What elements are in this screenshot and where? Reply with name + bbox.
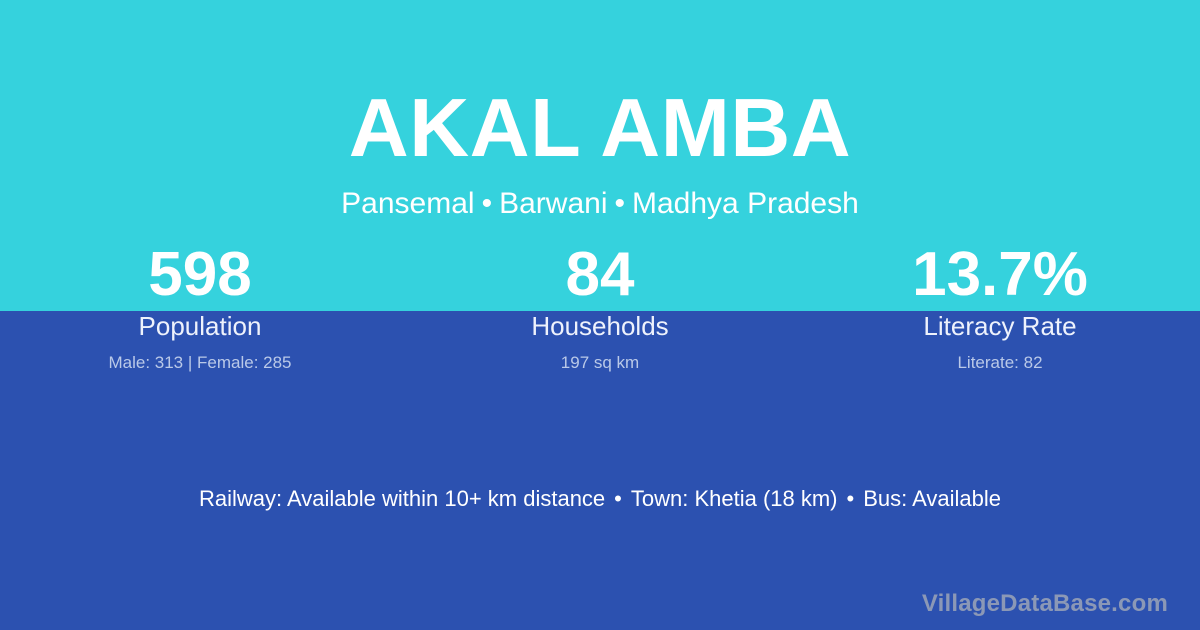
stat-households-value: 84: [400, 240, 800, 310]
page-title: AKAL AMBA: [0, 0, 1200, 169]
infrastructure-railway: Railway: Available within 10+ km distanc…: [199, 486, 605, 511]
stat-literacy-rate-label: Literacy Rate: [800, 310, 1200, 342]
site-brand-logo: VillageDataBase.com: [922, 590, 1168, 618]
infrastructure-separator-2: •: [838, 484, 864, 514]
card-header: AKAL AMBA Pansemal•Barwani•Madhya Prades…: [0, 0, 1200, 219]
stat-population-value: 598: [0, 240, 400, 310]
stat-population-detail: Male: 313 | Female: 285: [0, 342, 400, 376]
infrastructure-town: Town: Khetia (18 km): [631, 486, 838, 511]
stat-households: 84 Households 197 sq km: [400, 240, 800, 376]
stat-literacy-rate-detail: Literate: 82: [800, 342, 1200, 376]
location-breadcrumb: Pansemal•Barwani•Madhya Pradesh: [0, 169, 1200, 219]
village-info-card: AKAL AMBA Pansemal•Barwani•Madhya Prades…: [0, 0, 1200, 630]
stat-households-detail: 197 sq km: [400, 342, 800, 376]
stat-literacy-rate: 13.7% Literacy Rate Literate: 82: [800, 240, 1200, 376]
infrastructure-summary: Railway: Available within 10+ km distanc…: [0, 484, 1200, 514]
breadcrumb-block: Pansemal: [341, 187, 474, 220]
stat-households-label: Households: [400, 310, 800, 342]
breadcrumb-state: Madhya Pradesh: [632, 187, 859, 220]
breadcrumb-separator-2: •: [607, 189, 632, 219]
breadcrumb-separator-1: •: [475, 189, 500, 219]
breadcrumb-district: Barwani: [499, 187, 607, 220]
infrastructure-separator-1: •: [605, 484, 631, 514]
stat-population: 598 Population Male: 313 | Female: 285: [0, 240, 400, 376]
stat-literacy-rate-value: 13.7%: [800, 240, 1200, 310]
stats-row: 598 Population Male: 313 | Female: 285 8…: [0, 240, 1200, 376]
stat-population-label: Population: [0, 310, 400, 342]
infrastructure-bus: Bus: Available: [863, 486, 1001, 511]
